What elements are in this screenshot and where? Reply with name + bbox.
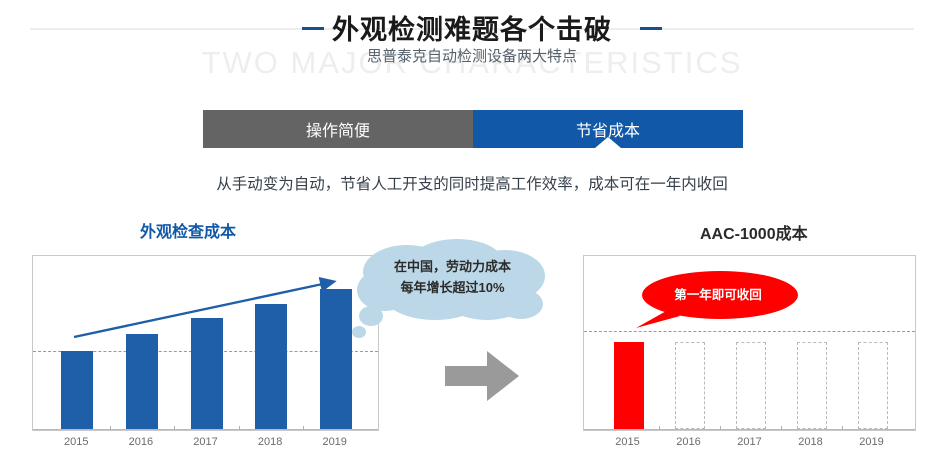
x-axis-label-2019: 2019 bbox=[322, 436, 346, 448]
x-axis-label-2019: 2019 bbox=[859, 436, 883, 448]
bar-2016 bbox=[675, 342, 705, 429]
chart-baseline bbox=[33, 429, 378, 430]
bar-2018 bbox=[797, 342, 827, 429]
x-axis-tick bbox=[110, 426, 111, 430]
x-axis-label-2015: 2015 bbox=[615, 436, 639, 448]
tab-easy-operation-label: 操作简便 bbox=[306, 117, 370, 141]
right-chart-x-axis-labels: 20152016201720182019 bbox=[583, 436, 916, 456]
x-axis-tick bbox=[174, 426, 175, 430]
red-bubble-label: 第一年即可收回 bbox=[628, 284, 808, 303]
tab-bar[interactable]: 操作简便 节省成本 bbox=[203, 110, 743, 148]
active-tab-notch-icon bbox=[595, 137, 621, 148]
x-axis-label-2018: 2018 bbox=[798, 436, 822, 448]
bar-2015 bbox=[614, 342, 644, 429]
x-axis-label-2015: 2015 bbox=[64, 436, 88, 448]
x-axis-tick bbox=[303, 426, 304, 430]
right-chart-title: AAC-1000成本 bbox=[700, 220, 808, 244]
x-axis-label-2018: 2018 bbox=[258, 436, 282, 448]
chart-manual-inspection-cost bbox=[32, 255, 379, 431]
bar-2016 bbox=[126, 334, 158, 429]
bar-2017 bbox=[736, 342, 766, 429]
bar-2015 bbox=[61, 351, 93, 429]
page-subtitle: 思普泰克自动检测设备两大特点 bbox=[0, 45, 944, 66]
cloud-callout: 在中国，劳动力成本 每年增长超过10% bbox=[345, 238, 560, 348]
transition-right-arrow-icon bbox=[443, 348, 521, 404]
cloud-callout-line2: 每年增长超过10% bbox=[345, 277, 560, 298]
tab-cost-saving[interactable]: 节省成本 bbox=[473, 110, 743, 148]
page-header: TWO MAJOR CHARACTERISTICS 外观检测难题各个击破 思普泰… bbox=[0, 0, 944, 92]
x-axis-tick bbox=[239, 426, 240, 430]
bar-2018 bbox=[255, 304, 287, 429]
tab-easy-operation[interactable]: 操作简便 bbox=[203, 110, 473, 148]
x-axis-tick bbox=[842, 426, 843, 430]
red-speech-bubble: 第一年即可收回 bbox=[628, 268, 808, 330]
x-axis-label-2017: 2017 bbox=[193, 436, 217, 448]
chart-baseline bbox=[584, 429, 915, 430]
left-chart-plot-area bbox=[33, 256, 378, 430]
x-axis-tick bbox=[659, 426, 660, 430]
page-title: 外观检测难题各个击破 bbox=[0, 8, 944, 47]
left-chart-title: 外观检查成本 bbox=[140, 218, 236, 242]
x-axis-label-2016: 2016 bbox=[129, 436, 153, 448]
x-axis-tick bbox=[720, 426, 721, 430]
x-axis-label-2017: 2017 bbox=[737, 436, 761, 448]
x-axis-label-2016: 2016 bbox=[676, 436, 700, 448]
left-chart-x-axis-labels: 20152016201720182019 bbox=[32, 436, 379, 456]
bar-2019 bbox=[858, 342, 888, 429]
bar-2017 bbox=[191, 318, 223, 429]
cloud-callout-text: 在中国，劳动力成本 每年增长超过10% bbox=[345, 256, 560, 298]
lead-description: 从手动变为自动，节省人工开支的同时提高工作效率，成本可在一年内收回 bbox=[0, 172, 944, 194]
cloud-callout-line1: 在中国，劳动力成本 bbox=[345, 256, 560, 277]
chart-gridline bbox=[584, 331, 915, 332]
x-axis-tick bbox=[781, 426, 782, 430]
